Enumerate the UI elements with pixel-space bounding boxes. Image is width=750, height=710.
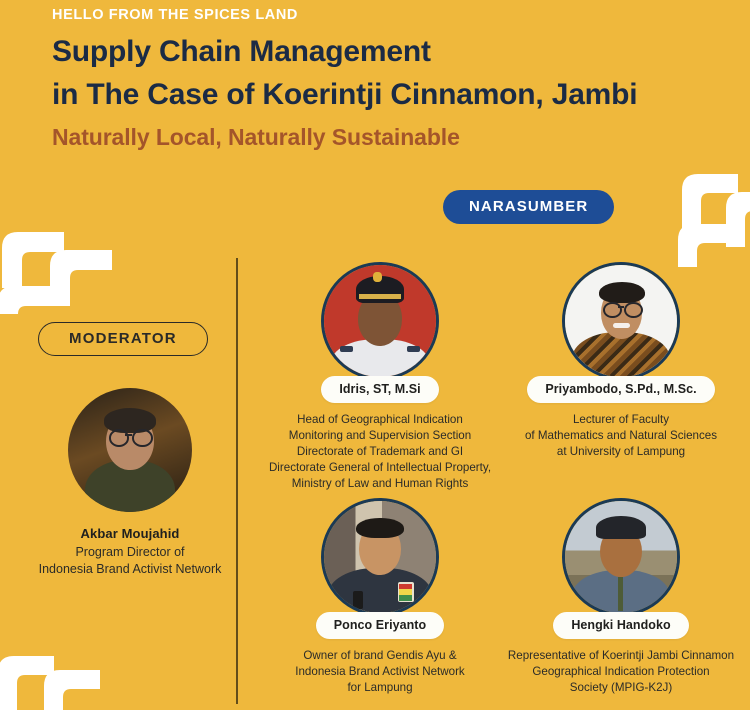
speaker-avatar-wrap [562, 262, 680, 380]
moderator-card: Akbar Moujahid Program Director of Indon… [35, 388, 225, 577]
speaker-avatar [321, 498, 439, 616]
speaker-card-priyambodo: Priyambodo, S.Pd., M.Sc. Lecturer of Fac… [501, 262, 741, 460]
step-decor-left-lower [0, 650, 114, 710]
vertical-divider [236, 258, 238, 704]
speaker-role: Lecturer of Faculty of Mathematics and N… [501, 412, 741, 460]
speaker-name: Idris, ST, M.Si [321, 376, 438, 403]
moderator-role-line1: Program Director of [35, 544, 225, 561]
speaker-card-hengki: Hengki Handoko Representative of Koerint… [501, 498, 741, 696]
stair-step-icon [0, 650, 114, 710]
speaker-card-ponco: Ponco Eriyanto Owner of brand Gendis Ayu… [260, 498, 500, 696]
speaker-role: Head of Geographical Indication Monitori… [260, 412, 500, 492]
stair-step-icon [660, 142, 750, 267]
step-decor-right-upper [660, 142, 750, 267]
speaker-role: Representative of Koerintji Jambi Cinnam… [501, 648, 741, 696]
speaker-name: Hengki Handoko [553, 612, 688, 639]
speakers-grid: Idris, ST, M.Si Head of Geographical Ind… [255, 262, 750, 704]
speaker-avatar [562, 498, 680, 616]
eyebrow-text: HELLO FROM THE SPICES LAND [52, 8, 712, 24]
page-subtitle: Naturally Local, Naturally Sustainable [52, 122, 712, 153]
speaker-card-idris: Idris, ST, M.Si Head of Geographical Ind… [260, 262, 500, 492]
header: HELLO FROM THE SPICES LAND Supply Chain … [52, 8, 712, 153]
moderator-badge: MODERATOR [38, 322, 208, 356]
narasumber-badge: NARASUMBER [443, 190, 614, 224]
stair-step-icon [0, 196, 114, 314]
speaker-avatar [321, 262, 439, 380]
speaker-role: Owner of brand Gendis Ayu & Indonesia Br… [260, 648, 500, 696]
moderator-avatar [68, 388, 192, 512]
page-title-line2: in The Case of Koerintji Cinnamon, Jambi [52, 74, 712, 117]
moderator-role-line2: Indonesia Brand Activist Network [35, 561, 225, 578]
speaker-name: Priyambodo, S.Pd., M.Sc. [527, 376, 714, 403]
speaker-avatar-wrap [562, 498, 680, 616]
step-decor-left-upper [0, 196, 114, 314]
speaker-avatar-wrap [321, 498, 439, 616]
moderator-role: Program Director of Indonesia Brand Acti… [35, 544, 225, 577]
moderator-name: Akbar Moujahid [35, 526, 225, 541]
poster-root: { "theme": { "background": "#efb83c", "t… [0, 0, 750, 704]
speaker-avatar-wrap [321, 262, 439, 380]
speaker-name: Ponco Eriyanto [316, 612, 444, 639]
speaker-avatar [562, 262, 680, 380]
page-title-line1: Supply Chain Management [52, 31, 712, 74]
